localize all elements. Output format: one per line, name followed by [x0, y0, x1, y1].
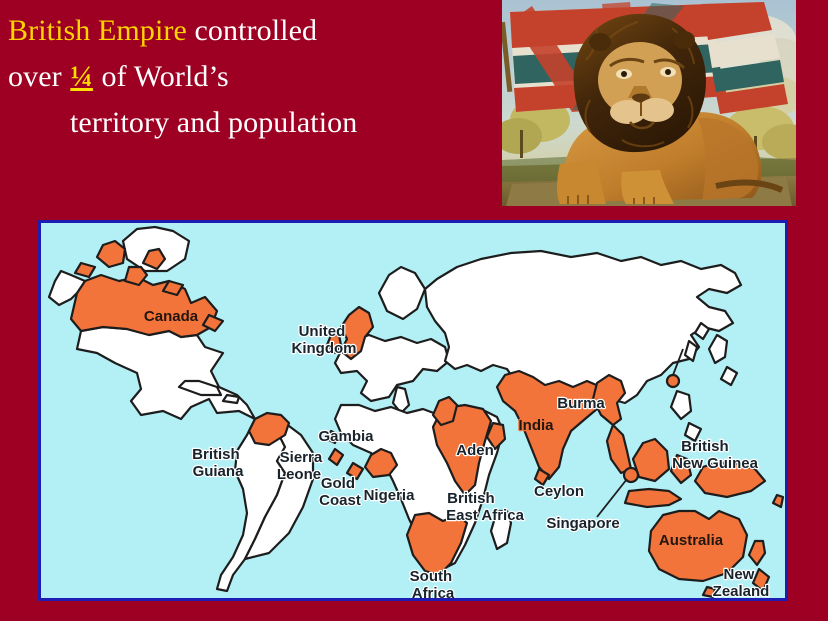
map-label-british-east-africa: British East Africa: [446, 490, 524, 524]
landmass-japan: [695, 323, 737, 385]
title-highlight-british-empire: British Empire: [8, 14, 187, 47]
territory-sierra-leone: [329, 449, 343, 465]
map-label-south-africa: South Africa: [410, 568, 457, 598]
map-label-gambia: Gambia: [318, 428, 374, 445]
title-text-controlled: controlled: [187, 14, 317, 47]
map-label-ceylon: Ceylon: [534, 483, 584, 500]
map-label-united-kingdom: United Kingdom: [292, 323, 357, 357]
title-line-1: British Empire controlled: [8, 8, 500, 54]
title-line-2: over ¼ of World’s: [8, 54, 500, 100]
fraction-one-quarter: ¼: [69, 60, 94, 93]
map-label-aden: Aden: [456, 442, 494, 459]
singapore-leader-line: [597, 479, 627, 517]
world-map-svg: Canada British Guiana United Kingdom Gam…: [41, 223, 785, 598]
landmass-scandinavia: [379, 267, 425, 319]
lion-illustration: [502, 0, 796, 206]
territory-hong-kong-marker: [667, 375, 679, 387]
map-label-singapore: Singapore: [546, 515, 619, 532]
map-label-australia: Australia: [659, 532, 724, 549]
territory-new-zealand-north: [749, 541, 765, 565]
map-label-gold-coast: Gold Coast: [319, 475, 361, 509]
map-label-british-guiana: British Guiana: [192, 446, 244, 480]
map-label-nigeria: Nigeria: [364, 487, 416, 504]
landmass-hispaniola: [223, 395, 239, 403]
map-label-sierra-leone: Sierra Leone: [277, 449, 326, 483]
map-label-india: India: [518, 417, 554, 434]
territory-egypt-sudan: [433, 397, 457, 425]
map-label-canada: Canada: [144, 308, 199, 325]
map-label-burma: Burma: [557, 395, 605, 412]
landmass-united-states: [77, 327, 255, 419]
world-map: Canada British Guiana United Kingdom Gam…: [38, 220, 788, 601]
title-text-over: over: [8, 60, 69, 93]
landmass-philippines: [671, 391, 691, 419]
territory-canada: [71, 275, 217, 337]
lion-ear-right: [673, 31, 695, 49]
territory-malaya: [607, 425, 631, 473]
lion-muzzle-right: [638, 98, 674, 122]
lion-illustration-artwork: [502, 0, 796, 206]
territory-java: [625, 489, 681, 507]
title-text-of-worlds: of World’s: [94, 60, 229, 93]
slide-title-block: British Empire controlled over ¼ of Worl…: [0, 0, 500, 175]
title-text-territory-population: territory and population: [70, 106, 357, 139]
title-line-3: territory and population: [8, 100, 500, 146]
map-label-british-new-guinea: British New Guinea: [672, 438, 759, 472]
territory-borneo: [633, 439, 669, 481]
territory-fiji-islands: [773, 495, 783, 507]
lion-ear-left: [589, 33, 611, 51]
